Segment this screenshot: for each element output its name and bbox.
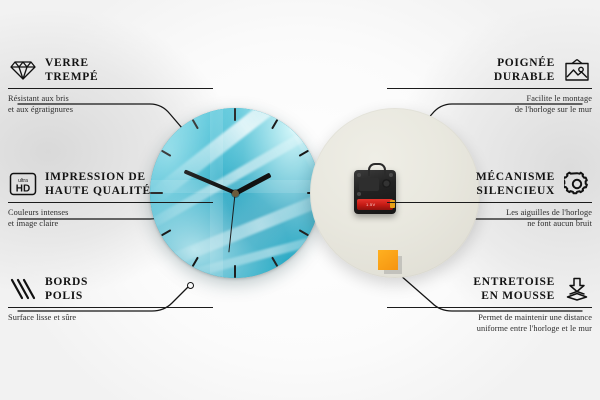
divider — [387, 88, 592, 89]
diagonal-stripes-icon — [8, 275, 38, 303]
feature-subtitle: Surface lisse et sûre — [8, 312, 213, 323]
feature-subtitle: Résistant aux bris et aux égratignures — [8, 93, 213, 115]
feature-header: POIGNÉE DURABLE — [387, 56, 592, 84]
feature-title-line2: SILENCIEUX — [476, 184, 555, 198]
hanger-hook-icon — [368, 163, 386, 176]
infographic-canvas: 1.5V VERRE TREMPÉ Résistant aux bris et … — [0, 0, 600, 400]
feature-subtitle-line1: Permet de maintenir une distance — [478, 313, 592, 322]
feature-title-line1: VERRE — [45, 57, 89, 69]
feature-title: ENTRETOISE EN MOUSSE — [473, 275, 555, 303]
feature-subtitle: Les aiguilles de l'horloge ne font aucun… — [387, 207, 592, 229]
feature-bords-polis: BORDS POLIS Surface lisse et sûre — [8, 275, 213, 323]
feature-title: POIGNÉE DURABLE — [494, 56, 555, 84]
feature-subtitle: Facilite le montage de l'horloge sur le … — [387, 93, 592, 115]
feature-title-line1: IMPRESSION DE — [45, 171, 146, 183]
foam-spacer — [378, 250, 398, 270]
feature-subtitle-line1: Les aiguilles de l'horloge — [506, 208, 592, 217]
mechanism-screw — [357, 173, 361, 177]
clock-tick-12 — [234, 108, 236, 193]
feature-title-line2: POLIS — [45, 289, 88, 303]
feature-subtitle-line1: Surface lisse et sûre — [8, 313, 76, 322]
feature-subtitle-line2: et image claire — [8, 218, 213, 229]
feature-header: BORDS POLIS — [8, 275, 213, 303]
divider — [8, 307, 213, 308]
feature-header: ultra HD IMPRESSION DE HAUTE QUALITÉ — [8, 170, 213, 198]
feature-header: VERRE TREMPÉ — [8, 56, 213, 84]
feature-subtitle-line1: Couleurs intenses — [8, 208, 68, 217]
feature-verre-trempe: VERRE TREMPÉ Résistant aux bris et aux é… — [8, 56, 213, 115]
gear-icon — [562, 170, 592, 198]
picture-frame-hanger-icon — [562, 56, 592, 84]
feature-subtitle: Permet de maintenir une distance uniform… — [387, 312, 592, 334]
feature-impression-haute-qualite: ultra HD IMPRESSION DE HAUTE QUALITÉ Cou… — [8, 170, 213, 229]
feature-title: IMPRESSION DE HAUTE QUALITÉ — [45, 170, 151, 198]
battery-label: 1.5V — [366, 202, 375, 207]
feature-title-line1: ENTRETOISE — [473, 276, 555, 288]
feature-subtitle: Couleurs intenses et image claire — [8, 207, 213, 229]
feature-subtitle-line1: Facilite le montage — [527, 94, 593, 103]
feature-header: MÉCANISME SILENCIEUX — [387, 170, 592, 198]
divider — [8, 88, 213, 89]
mechanism-screw — [357, 192, 361, 196]
feature-title-line2: DURABLE — [494, 70, 555, 84]
feature-title-line1: MÉCANISME — [476, 171, 555, 183]
feature-mecanisme-silencieux: MÉCANISME SILENCIEUX Les aiguilles de l'… — [387, 170, 592, 229]
feature-title: VERRE TREMPÉ — [45, 56, 98, 84]
mechanism-plate — [359, 178, 379, 191]
feature-title-line2: TREMPÉ — [45, 70, 98, 84]
divider — [8, 202, 213, 203]
divider — [387, 307, 592, 308]
feature-title: MÉCANISME SILENCIEUX — [476, 170, 555, 198]
feature-title: BORDS POLIS — [45, 275, 88, 303]
feature-subtitle-line2: ne font aucun bruit — [387, 218, 592, 229]
clock-tick-6 — [234, 193, 236, 278]
feature-header: ENTRETOISE EN MOUSSE — [387, 275, 592, 303]
feature-entretoise-en-mousse: ENTRETOISE EN MOUSSE Permet de maintenir… — [387, 275, 592, 334]
ultra-hd-icon: ultra HD — [8, 170, 38, 198]
feature-poignee-durable: POIGNÉE DURABLE Facilite le montage de l… — [387, 56, 592, 115]
svg-text:HD: HD — [16, 184, 30, 195]
feature-subtitle-line1: Résistant aux bris — [8, 94, 69, 103]
feature-subtitle-line2: uniforme entre l'horloge et le mur — [387, 323, 592, 334]
feature-title-line2: EN MOUSSE — [473, 289, 555, 303]
diamond-icon — [8, 56, 38, 84]
clock-tick-3 — [235, 192, 320, 194]
divider — [387, 202, 592, 203]
feature-subtitle-line2: et aux égratignures — [8, 104, 213, 115]
clock-center-cap — [232, 190, 239, 197]
feature-title-line2: HAUTE QUALITÉ — [45, 184, 151, 198]
feature-subtitle-line2: de l'horloge sur le mur — [387, 104, 592, 115]
feature-title-line1: POIGNÉE — [497, 57, 555, 69]
arrow-down-layers-icon — [562, 275, 592, 303]
feature-title-line1: BORDS — [45, 276, 88, 288]
